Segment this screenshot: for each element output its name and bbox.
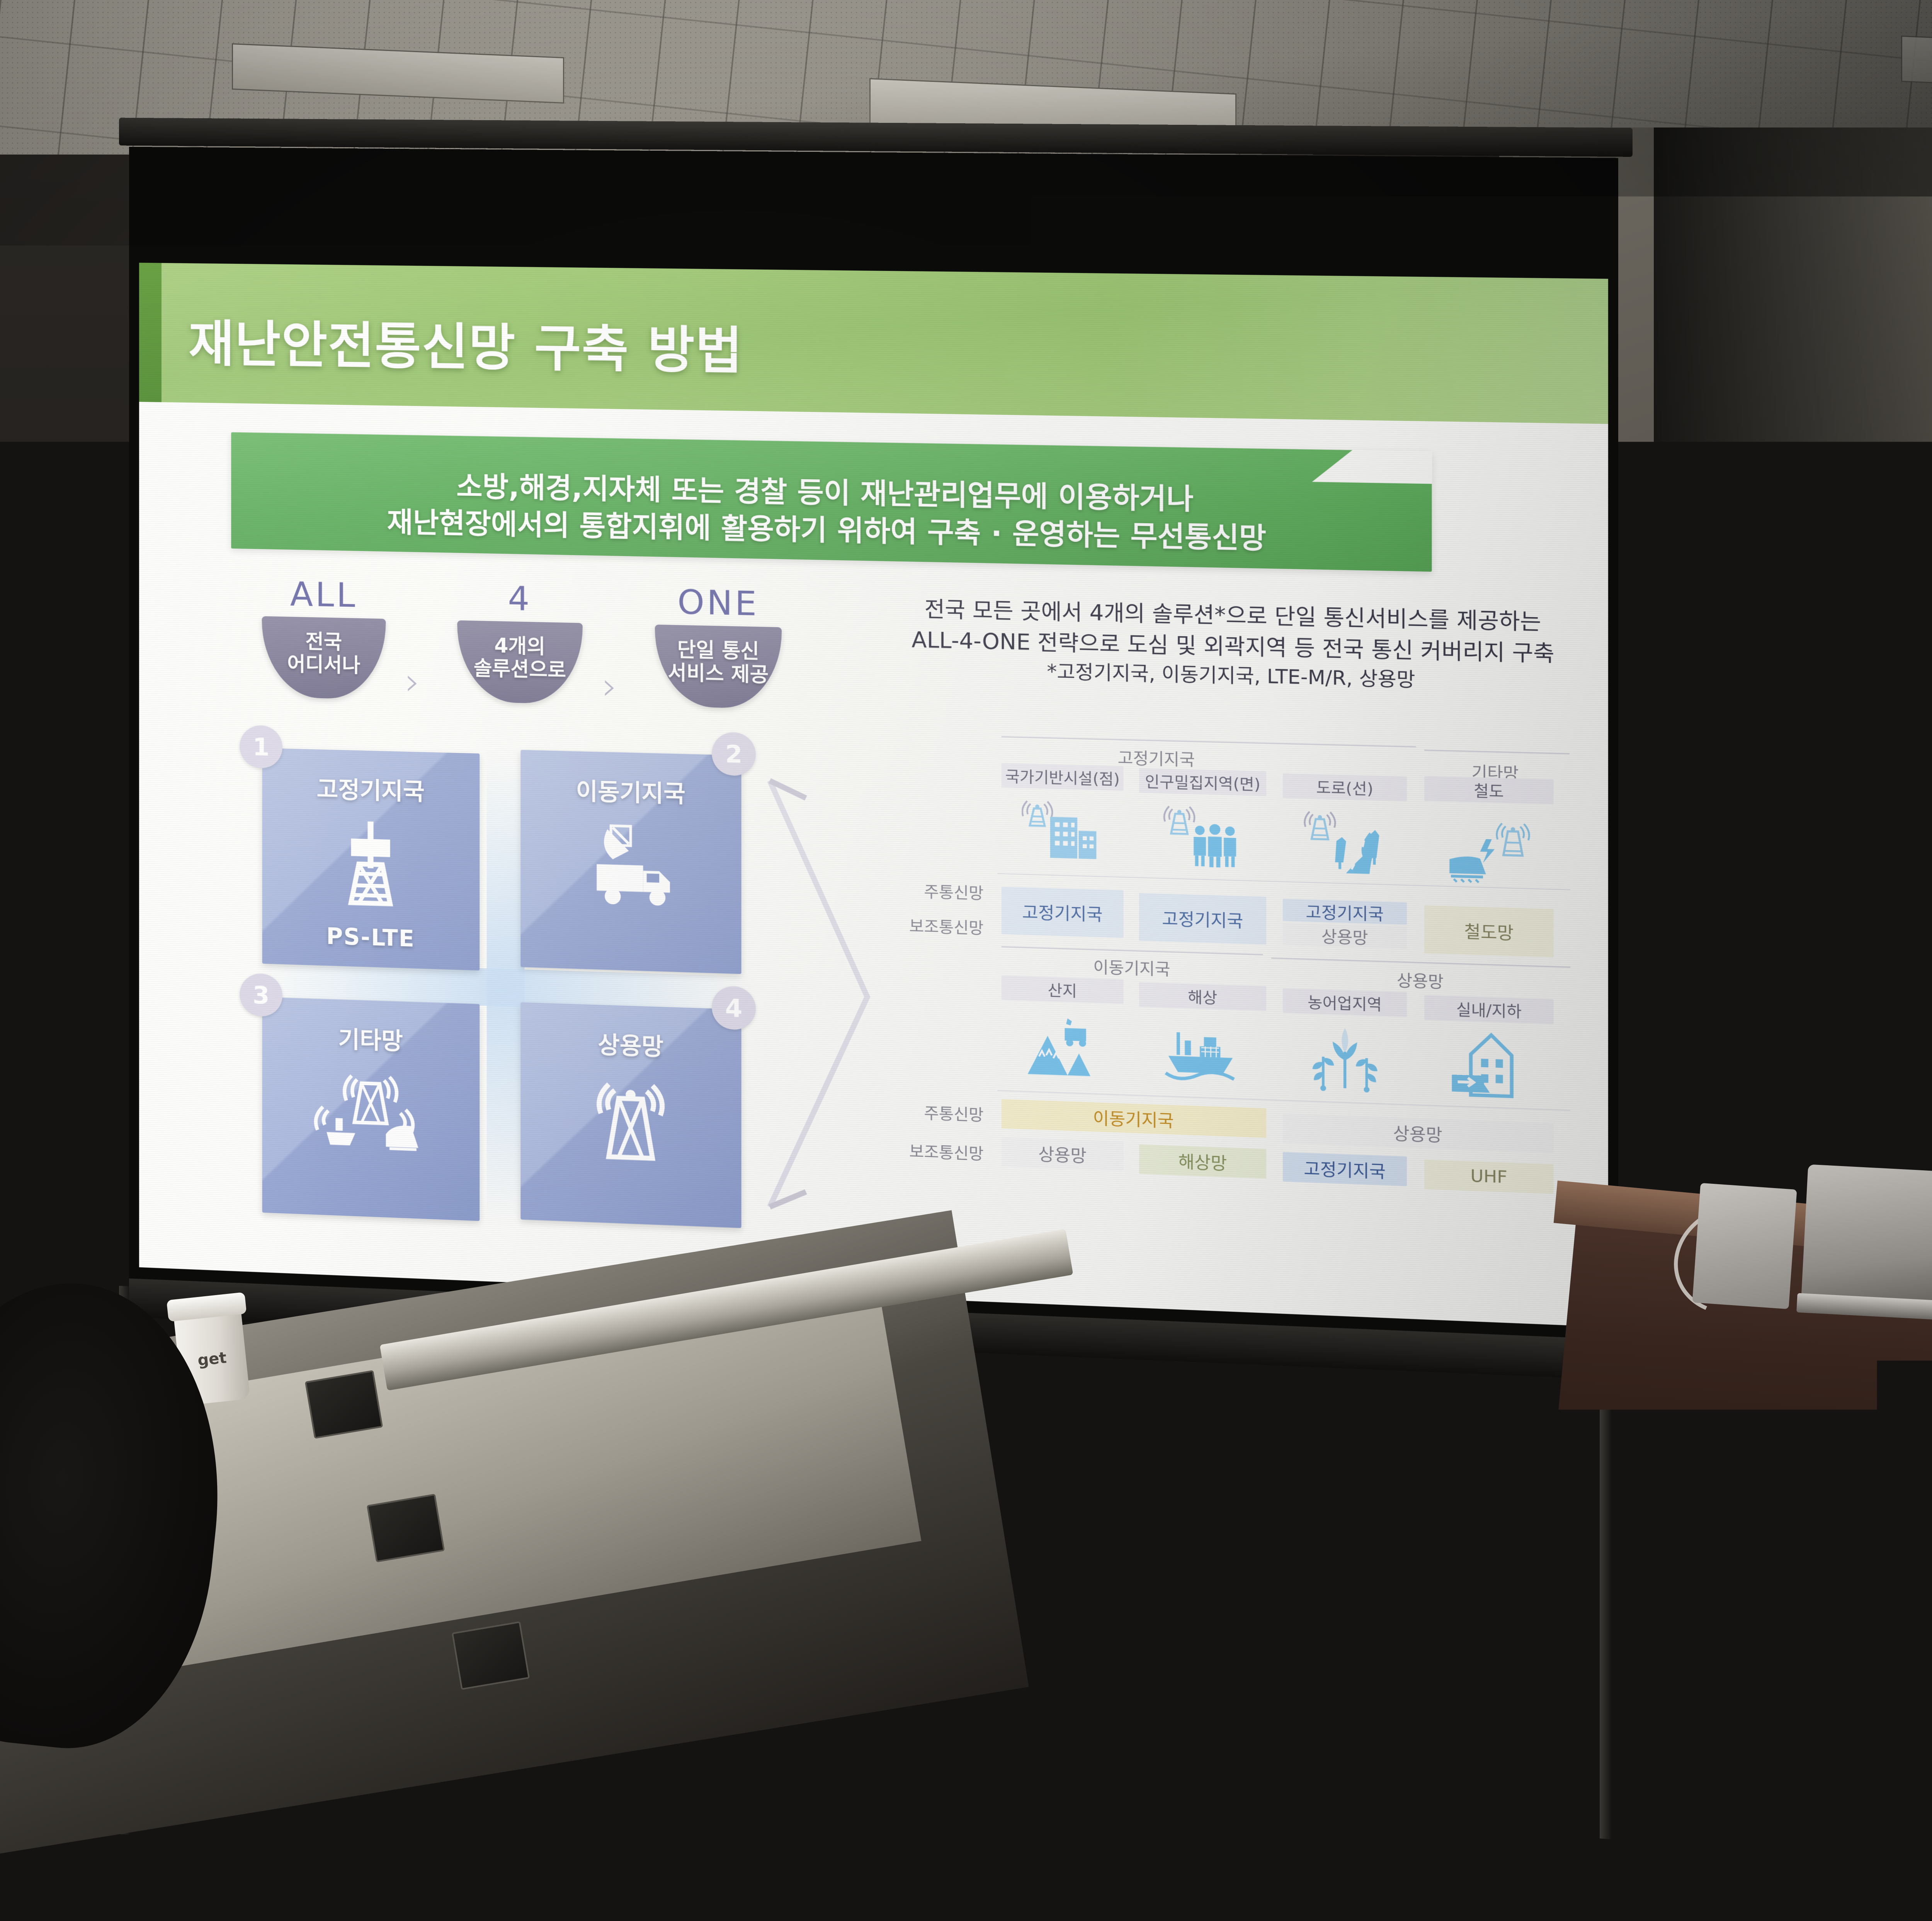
quadrant-4-label: 상용망 xyxy=(520,1023,741,1065)
quadrant-box-fixed-station[interactable]: 고정기지국 PS-LTE xyxy=(262,748,480,971)
cell-infra-network: 고정기지국 xyxy=(1002,887,1124,938)
cell-sea-backup: 해상망 xyxy=(1139,1144,1266,1178)
strategy-step-4-keyword: 4 xyxy=(445,578,595,620)
cell-farming-backup: 고정기지국 xyxy=(1283,1152,1407,1186)
all-4-one-strategy: ALL 전국 어디서나 › 4 4개의 솔루션으로 › ONE xyxy=(250,574,814,716)
projection-screen: 재난안전통신망 구축 방법 소방,해경,지자체 또는 경찰 등이 재난관리업무에… xyxy=(139,147,1604,1379)
quadrant-4-sublabel xyxy=(520,1203,741,1212)
building-underground-icon xyxy=(1424,1025,1554,1106)
quadrant-box-mobile-station[interactable]: 이동기지국 xyxy=(520,750,741,974)
laptop-screen xyxy=(1801,1164,1932,1312)
header-national-infra: 국가기반시설(점) xyxy=(1002,763,1124,791)
desk-cable-port-3 xyxy=(452,1621,530,1690)
satellite-truck-icon xyxy=(577,819,684,913)
strategy-step-all-keyword: ALL xyxy=(250,574,398,616)
solution-quadrant-grid: 고정기지국 PS-LTE 이동기지국 xyxy=(255,741,756,1238)
strategy-step-all-line2: 어디서나 xyxy=(287,653,360,678)
strategy-description: 전국 모든 곳에서 4개의 솔루션*으로 단일 통신서비스를 제공하는 ALL-… xyxy=(904,593,1562,697)
strategy-step-one-line1: 단일 통신 xyxy=(677,638,759,663)
definition-banner: 소방,해경,지자체 또는 경찰 등이 재난관리업무에 이용하거나 재난현장에서의… xyxy=(231,432,1432,572)
tablet-device xyxy=(1692,1183,1797,1309)
conference-room: 재난안전통신망 구축 방법 소방,해경,지자체 또는 경찰 등이 재난관리업무에… xyxy=(0,0,1932,1731)
cell-railway-network: 철도망 xyxy=(1424,905,1554,957)
tower-road-icon xyxy=(1283,803,1407,882)
coverage-table: 고정기지국 기타망 국가기반시설(점) 인구밀집지역(면) 도로(선) 철도 xyxy=(880,739,1570,1299)
strategy-step-all: ALL 전국 어디서나 xyxy=(250,574,398,700)
tower-people-icon xyxy=(1139,797,1266,877)
title-accent-bar xyxy=(139,263,162,402)
header-dense-population: 인구밀집지역(면) xyxy=(1139,768,1266,796)
crops-icon xyxy=(1283,1018,1407,1098)
cell-road-backup: 상용망 xyxy=(1283,923,1407,949)
quadrant-2-sublabel xyxy=(520,951,741,958)
strategy-step-one-line2: 서비스 제공 xyxy=(668,661,769,687)
row-label-backup-1: 보조통신망 xyxy=(880,913,984,938)
ship-train-tower-icon xyxy=(312,1066,429,1161)
chevron-arrow-large-icon xyxy=(764,762,876,1230)
cell-road-network-group: 고정기지국 상용망 xyxy=(1283,899,1407,949)
quadrant-box-other-network[interactable]: 기타망 xyxy=(262,997,480,1221)
strategy-step-4-line2: 솔루션으로 xyxy=(474,657,566,682)
strategy-step-4-line1: 4개의 xyxy=(494,634,545,659)
strategy-step-one: ONE 단일 통신 서비스 제공 xyxy=(643,582,794,709)
antenna-tower-icon xyxy=(579,1068,682,1171)
train-tower-icon xyxy=(1424,811,1554,891)
ship-icon xyxy=(1139,1011,1266,1091)
chevron-right-icon-2: › xyxy=(602,664,617,708)
quadrant-2-label: 이동기지국 xyxy=(520,771,741,811)
chevron-right-icon-1: › xyxy=(405,660,420,704)
quadrant-1-label: 고정기지국 xyxy=(262,769,480,808)
header-road: 도로(선) xyxy=(1283,773,1407,801)
quadrant-box-commercial-network[interactable]: 상용망 xyxy=(520,1002,741,1228)
row-label-primary-1: 주통신망 xyxy=(880,878,984,904)
strategy-step-all-shield: 전국 어디서나 xyxy=(262,616,386,700)
presentation-slide: 재난안전통신망 구축 방법 소방,해경,지자체 또는 경찰 등이 재난관리업무에… xyxy=(139,263,1608,1327)
cell-mountain-backup: 상용망 xyxy=(1002,1137,1124,1171)
strategy-step-4: 4 4개의 솔루션으로 xyxy=(445,578,595,705)
strategy-step-one-keyword: ONE xyxy=(643,582,794,624)
desk-cable-port-1 xyxy=(305,1370,383,1439)
cell-mobile-primary: 이동기지국 xyxy=(1002,1099,1266,1138)
group-rule-2 xyxy=(1424,750,1570,754)
cell-commercial-primary: 상용망 xyxy=(1283,1113,1554,1153)
cell-dense-network: 고정기지국 xyxy=(1139,893,1266,944)
tower-buildings-icon xyxy=(1002,792,1124,871)
cell-road-primary: 고정기지국 xyxy=(1283,899,1407,925)
header-indoor-underground: 실내/지하 xyxy=(1424,995,1554,1024)
quadrant-number-1: 1 xyxy=(240,725,282,768)
header-mountain: 산지 xyxy=(1002,976,1124,1004)
row-label-primary-2: 주통신망 xyxy=(880,1099,984,1125)
header-farming-fishing: 농어업지역 xyxy=(1283,988,1407,1017)
cell-indoor-backup: UHF xyxy=(1424,1159,1554,1194)
desk-cable-port-2 xyxy=(367,1494,445,1562)
strategy-step-one-shield: 단일 통신 서비스 제공 xyxy=(655,624,782,709)
quadrant-3-sublabel xyxy=(262,1196,480,1205)
header-sea: 해상 xyxy=(1139,982,1266,1011)
title-highlight-fade xyxy=(1111,274,1608,424)
strategy-step-4-shield: 4개의 솔루션으로 xyxy=(457,620,583,705)
mountain-truck-icon xyxy=(1002,1005,1124,1085)
quadrant-3-label: 기타망 xyxy=(262,1018,480,1059)
row-label-backup-2: 보조통신망 xyxy=(880,1137,984,1164)
quadrant-1-sublabel: PS-LTE xyxy=(262,921,480,954)
header-railway: 철도 xyxy=(1424,776,1554,804)
strategy-step-all-line1: 전국 xyxy=(305,630,342,654)
slide-title: 재난안전통신망 구축 방법 xyxy=(189,304,743,383)
tower-icon xyxy=(322,813,420,914)
